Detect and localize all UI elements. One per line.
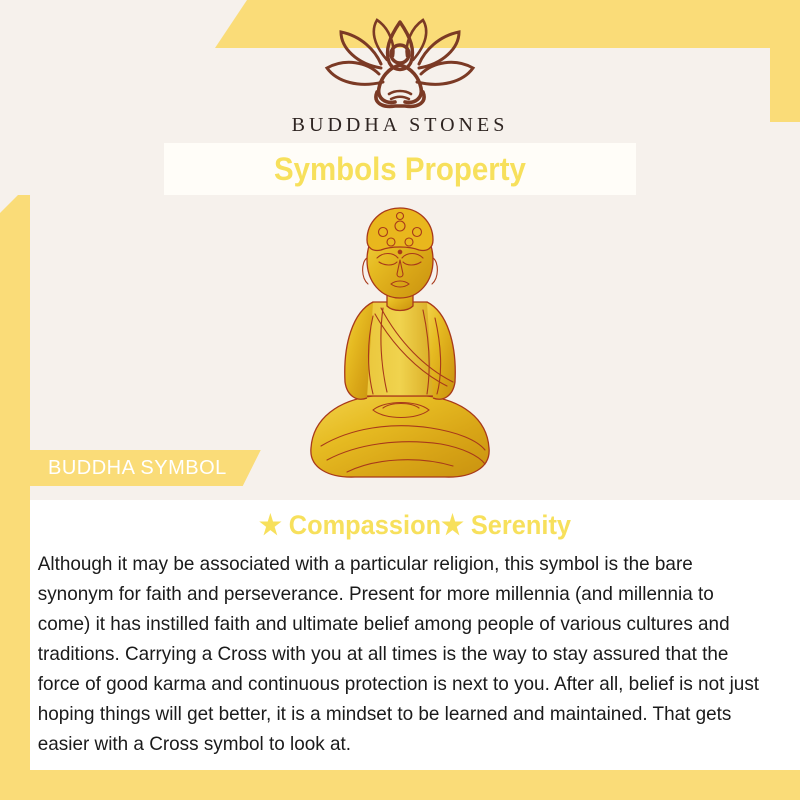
- decor-bottom-band: [0, 770, 800, 800]
- brand-logo: BUDDHA STONES: [0, 18, 800, 137]
- poster-canvas: BUDDHA STONES Symbols Property: [0, 0, 800, 800]
- brand-wordmark: BUDDHA STONES: [0, 114, 800, 137]
- golden-seated-buddha-illustration: [295, 196, 505, 496]
- category-badge: BUDDHA SYMBOL: [18, 450, 261, 486]
- category-badge-label: BUDDHA SYMBOL: [48, 457, 227, 480]
- lotus-meditation-figure-icon: [315, 18, 485, 110]
- content-paragraph: Although it may be associated with a par…: [30, 541, 777, 759]
- content-subtitle: ★ Compassion★ Serenity: [53, 500, 777, 541]
- content-panel: ★ Compassion★ Serenity Although it may b…: [30, 500, 800, 770]
- page-title: Symbols Property: [274, 151, 526, 188]
- title-banner: Symbols Property: [164, 143, 636, 195]
